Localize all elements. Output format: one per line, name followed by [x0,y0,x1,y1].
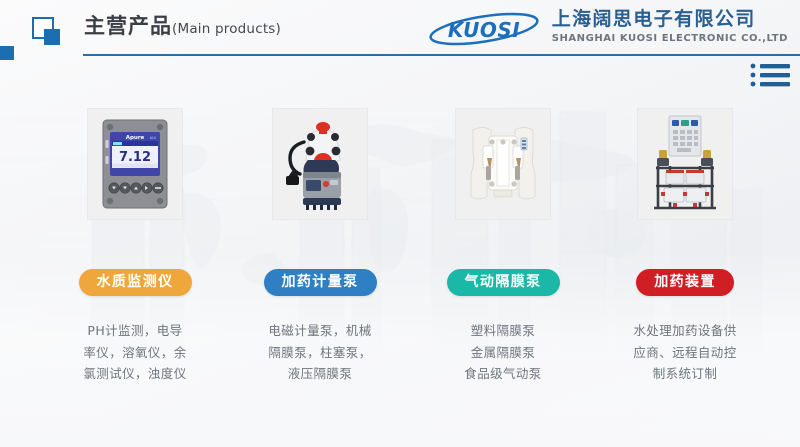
pneumatic-diaphragm-pump-photo-icon [463,118,543,210]
product-column[interactable]: 加药装置 水处理加药设备供 应商、远程自动控 制系统订制 [590,108,780,385]
product-image-card[interactable]: Apure A10 7.12 [87,108,183,220]
product-description: 水处理加药设备供 应商、远程自动控 制系统订制 [590,320,780,385]
product-label-pill[interactable]: 气动隔膜泵 [447,269,560,296]
product-label-pill[interactable]: 水质监测仪 [79,269,192,296]
svg-text:Apure: Apure [126,135,145,141]
dosing-metering-pump-photo-icon [280,114,360,214]
company-name-cn: 上海阔思电子有限公司 [552,9,788,31]
product-image-card[interactable] [272,108,368,220]
company-name-en: SHANGHAI KUOSI ELECTRONIC CO.,LTD [552,31,788,46]
page-header: 主营产品(Main products) KUOSI 上海阔思电子有限公司 SHA… [0,0,800,58]
product-description: 塑料隔膜泵 金属隔膜泵 食品级气动泵 [408,320,598,385]
product-column[interactable]: Apure A10 7.12 [40,108,230,385]
company-brand: KUOSI 上海阔思电子有限公司 SHANGHAI KUOSI ELECTRON… [426,8,788,46]
product-label-pill[interactable]: 加药装置 [636,269,734,296]
left-edge-accent [0,46,14,60]
dosing-device-skid-photo-icon [644,112,726,216]
product-label-pill[interactable]: 加药计量泵 [264,269,377,296]
double-square-logo-icon [32,17,62,45]
page-title-en: (Main products) [172,21,281,37]
page-title: 主营产品(Main products) [84,16,281,37]
svg-text:KUOSI: KUOSI [448,18,520,42]
list-menu-icon[interactable] [750,62,792,88]
header-divider [83,54,800,56]
page-title-cn: 主营产品 [84,14,172,38]
product-description: 电磁计量泵，机械 隔膜泵，柱塞泵， 液压隔膜泵 [225,320,415,385]
kuosi-logo-icon: KUOSI [426,12,542,46]
product-column[interactable]: 气动隔膜泵 塑料隔膜泵 金属隔膜泵 食品级气动泵 [408,108,598,385]
slide-root: 主营产品(Main products) KUOSI 上海阔思电子有限公司 SHA… [0,0,800,447]
product-column[interactable]: 加药计量泵 电磁计量泵，机械 隔膜泵，柱塞泵， 液压隔膜泵 [225,108,415,385]
product-image-card[interactable] [455,108,551,220]
water-quality-analyzer-photo-icon: Apure A10 7.12 [99,116,171,212]
svg-text:A10: A10 [150,136,156,140]
product-description: PH计监测，电导 率仪，溶氧仪，余 氯测试仪，浊度仪 [40,320,230,385]
product-image-card[interactable] [637,108,733,220]
svg-text:7.12: 7.12 [119,150,151,165]
